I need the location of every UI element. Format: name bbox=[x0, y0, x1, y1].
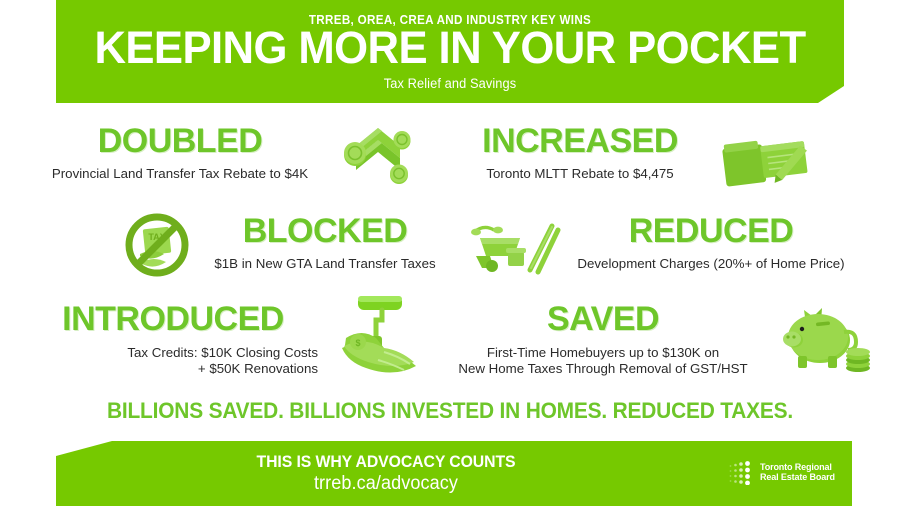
item-doubled: DOUBLED Provincial Land Transfer Tax Reb… bbox=[40, 124, 320, 182]
item-increased-desc: Toronto MLTT Rebate to $4,475 bbox=[440, 166, 720, 183]
tagline: BILLIONS SAVED. BILLIONS INVESTED IN HOM… bbox=[76, 398, 825, 424]
item-increased: INCREASED Toronto MLTT Rebate to $4,475 bbox=[440, 124, 720, 182]
header-banner: TRREB, OREA, CREA AND INDUSTRY KEY WINS … bbox=[0, 0, 900, 110]
item-saved-desc-line1: First-Time Homebuyers up to $130K on bbox=[436, 345, 770, 362]
item-saved-desc-line2: New Home Taxes Through Removal of GST/HS… bbox=[436, 361, 770, 378]
item-reduced: REDUCED Development Charges (20%+ of Hom… bbox=[566, 214, 856, 272]
item-blocked: BLOCKED $1B in New GTA Land Transfer Tax… bbox=[196, 214, 454, 272]
item-introduced-desc-line2: + $50K Renovations bbox=[28, 361, 318, 378]
trreb-logo-line1: Toronto Regional bbox=[760, 463, 835, 474]
trreb-logo-line2: Real Estate Board bbox=[760, 473, 835, 484]
item-blocked-desc: $1B in New GTA Land Transfer Taxes bbox=[196, 256, 454, 273]
infographic-canvas: TRREB, OREA, CREA AND INDUSTRY KEY WINS … bbox=[0, 0, 900, 506]
item-blocked-keyword: BLOCKED bbox=[196, 214, 454, 249]
wheelbarrow-construction-icon bbox=[468, 218, 568, 276]
footer-url[interactable]: trreb.ca/advocacy bbox=[73, 473, 700, 495]
piggy-bank-coins-icon bbox=[778, 296, 874, 380]
item-increased-keyword: INCREASED bbox=[440, 124, 720, 159]
item-introduced-keyword: INTRODUCED bbox=[28, 302, 318, 337]
no-tax-circle-slash-icon: TAX bbox=[124, 212, 190, 278]
trreb-dot-matrix-icon bbox=[728, 461, 754, 485]
header-subtitle: Tax Relief and Savings bbox=[76, 76, 825, 91]
svg-text:$: $ bbox=[355, 338, 360, 348]
item-reduced-desc: Development Charges (20%+ of Home Price) bbox=[566, 256, 856, 273]
item-introduced: INTRODUCED Tax Credits: $10K Closing Cos… bbox=[28, 302, 318, 378]
footer-headline: THIS IS WHY ADVOCACY COUNTS bbox=[79, 452, 693, 472]
item-introduced-desc-line1: Tax Credits: $10K Closing Costs bbox=[28, 345, 318, 362]
item-saved-keyword: SAVED bbox=[436, 302, 770, 337]
paint-roller-cash-icon: $ bbox=[332, 290, 436, 384]
item-reduced-keyword: REDUCED bbox=[566, 214, 856, 249]
house-arrow-coins-icon bbox=[338, 118, 416, 190]
chequebook-pen-icon bbox=[716, 132, 812, 192]
trreb-logo-text: Toronto Regional Real Estate Board bbox=[760, 463, 835, 484]
item-saved: SAVED First-Time Homebuyers up to $130K … bbox=[436, 302, 770, 378]
item-doubled-keyword: DOUBLED bbox=[40, 124, 320, 159]
item-doubled-desc: Provincial Land Transfer Tax Rebate to $… bbox=[40, 166, 320, 183]
trreb-logo: Toronto Regional Real Estate Board bbox=[728, 461, 839, 485]
page-title: KEEPING MORE IN YOUR POCKET bbox=[68, 26, 832, 70]
